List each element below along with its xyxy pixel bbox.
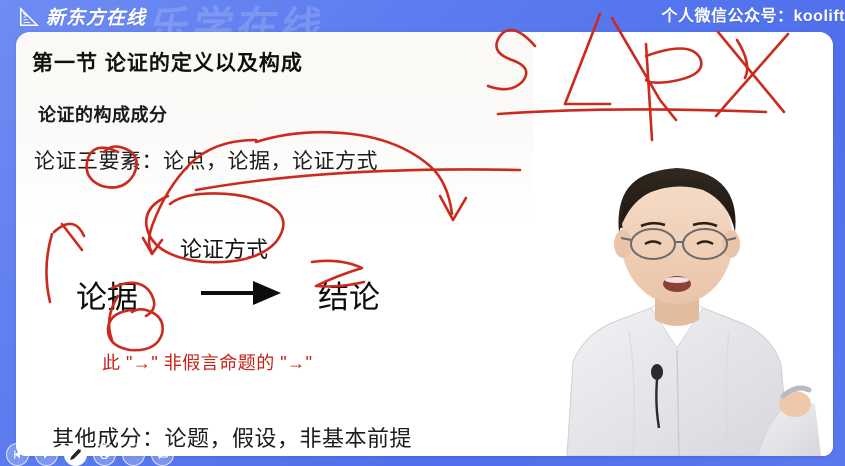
- triangle-right-icon: [41, 449, 52, 460]
- diagram-conclusion-label: 结论: [318, 272, 380, 317]
- eraser-tool-button[interactable]: [93, 443, 116, 466]
- annotation-toolbar[interactable]: [0, 442, 174, 466]
- pen-tool-button[interactable]: [64, 443, 87, 466]
- xdf-triangle-logo-icon: [18, 6, 40, 28]
- diagram-method-label: 论证方式: [180, 232, 268, 264]
- triangle-left-icon: [12, 449, 23, 460]
- diagram-premise-label: 论据: [76, 272, 138, 317]
- right-arrow-icon: [199, 275, 283, 311]
- next-button[interactable]: [35, 443, 58, 466]
- section-title: 第一节 论证的定义以及构成: [32, 47, 303, 77]
- sub-heading: 论证的构成成分: [38, 101, 168, 127]
- red-note-text: 此 "→" 非假言命题的 "→": [102, 349, 313, 375]
- clear-all-button[interactable]: [151, 443, 174, 466]
- slide-content: 第一节 论证的定义以及构成 论证的构成成分 论证三要素：论点，论据，论证方式 论…: [16, 32, 833, 456]
- slide-panel: 第一节 论证的定义以及构成 论证的构成成分 论证三要素：论点，论据，论证方式 论…: [16, 32, 833, 456]
- brand-name: 新东方在线: [46, 3, 146, 30]
- clear-board-icon: [157, 448, 169, 460]
- brand-logo: 新东方在线: [18, 3, 146, 30]
- eraser-icon: [99, 448, 111, 460]
- pen-icon: [69, 448, 82, 461]
- three-elements-line: 论证三要素：论点，论据，论证方式: [34, 145, 378, 175]
- ellipsis-icon: [127, 448, 140, 461]
- more-options-button[interactable]: [122, 443, 145, 466]
- wechat-promo-text: 个人微信公众号：koolift: [662, 2, 845, 26]
- previous-button[interactable]: [6, 443, 29, 466]
- lecture-player-screen: 乐学在线 新东方在线 个人微信公众号：koolift: [0, 0, 845, 466]
